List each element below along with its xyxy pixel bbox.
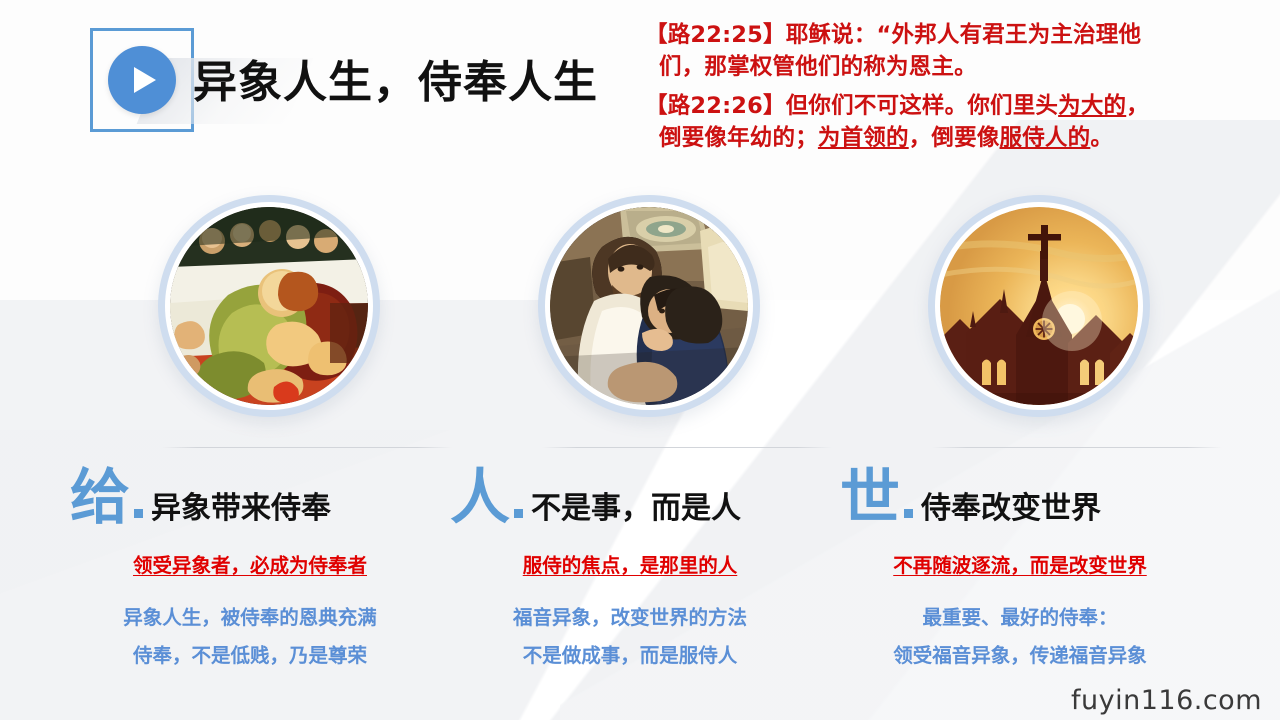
body-line-1: 最重要、最好的侍奉： [820,599,1220,637]
site-watermark: fuyin116.com [1071,685,1262,716]
square-bullet-icon [904,509,913,518]
column-label-row: 给 异象带来侍奉 [70,457,450,527]
play-icon [108,46,176,114]
column-subtitle: 侍奉改变世界 [921,493,1101,528]
column-body-text: 最重要、最好的侍奉： 领受福音异象，传递福音异象 [820,599,1220,675]
verse2-line2: 倒要像年幼的；为首领的，倒要像服侍人的。 [645,123,1260,155]
slide-canvas: 异象人生，侍奉人生 【路22:25】耶稣说：“外邦人有君王为主治理他 们，那掌权… [0,0,1280,720]
scripture-verse-2: 【路22:26】但你们不可这样。你们里头为大的， 倒要像年幼的；为首领的，倒要像… [645,91,1260,155]
content-columns: 给 异象带来侍奉 领受异象者，必成为侍奉者 异象人生，被侍奉的恩典充满 侍奉，不… [0,185,1280,720]
column-highlight-text: 领受异象者，必成为侍奉者 [50,549,450,578]
column-big-char: 给 [70,470,130,527]
column-person: 人 不是事，而是人 服侍的焦点，是那里的人 福音异象，改变世界的方法 不是做成事… [430,185,830,720]
column-divider-rule [162,447,452,448]
column-label-row: 人 不是事，而是人 [450,457,830,527]
jesus-comforting-painting [550,207,748,405]
column-divider-rule [932,447,1222,448]
slide-header: 异象人生，侍奉人生 【路22:25】耶稣说：“外邦人有君王为主治理他 们，那掌权… [0,0,1280,175]
column-subtitle: 不是事，而是人 [531,493,741,528]
column-highlight-text: 服侍的焦点，是那里的人 [430,549,830,578]
square-bullet-icon [134,509,143,518]
column-subtitle: 异象带来侍奉 [151,493,331,528]
verse2-line2-c: 。 [1090,125,1113,151]
column-divider-rule [542,447,832,448]
column-highlight-text: 不再随波逐流，而是改变世界 [820,549,1220,578]
verse2-line1-a: 【路22:26】但你们不可这样。你们里头 [645,93,1058,119]
verse1-line2: 们，那掌权管他们的称为恩主。 [645,52,1260,84]
column-body-text: 异象人生，被侍奉的恩典充满 侍奉，不是低贱，乃是尊荣 [50,599,450,675]
body-line-2: 侍奉，不是低贱，乃是尊荣 [50,637,450,675]
body-line-2: 领受福音异象，传递福音异象 [820,637,1220,675]
verse2-line1: 【路22:26】但你们不可这样。你们里头为大的， [645,91,1260,123]
scripture-verse-1: 【路22:25】耶稣说：“外邦人有君王为主治理他 们，那掌权管他们的称为恩主。 [645,20,1260,84]
column-body-text: 福音异象，改变世界的方法 不是做成事，而是服侍人 [430,599,830,675]
verse2-line2-underline-2: 服侍人的 [1000,125,1091,151]
verse2-line2-b: ，倒要像 [909,125,1000,151]
verse1-line1: 【路22:25】耶稣说：“外邦人有君王为主治理他 [645,20,1260,52]
scripture-block: 【路22:25】耶稣说：“外邦人有君王为主治理他 们，那掌权管他们的称为恩主。 … [645,20,1260,155]
column-give: 给 异象带来侍奉 领受异象者，必成为侍奉者 异象人生，被侍奉的恩典充满 侍奉，不… [50,185,450,720]
verse2-line2-underline-1: 为首领的 [818,125,909,151]
column-label-row: 世 侍奉改变世界 [840,457,1220,527]
verse2-line1-underline: 为大的 [1058,93,1126,119]
column-big-char: 世 [840,470,900,527]
page-title: 异象人生，侍奉人生 [193,46,598,110]
foot-washing-painting [170,207,368,405]
verse2-line1-b: ， [1126,93,1149,119]
body-line-1: 异象人生，被侍奉的恩典充满 [50,599,450,637]
column-world: 世 侍奉改变世界 不再随波逐流，而是改变世界 最重要、最好的侍奉： 领受福音异象… [820,185,1220,720]
square-bullet-icon [514,509,523,518]
play-triangle-icon [134,67,156,93]
church-sunset-silhouette [940,207,1138,405]
body-line-1: 福音异象，改变世界的方法 [430,599,830,637]
column-big-char: 人 [450,470,510,527]
verse2-line2-a: 倒要像年幼的； [659,125,818,151]
body-line-2: 不是做成事，而是服侍人 [430,637,830,675]
